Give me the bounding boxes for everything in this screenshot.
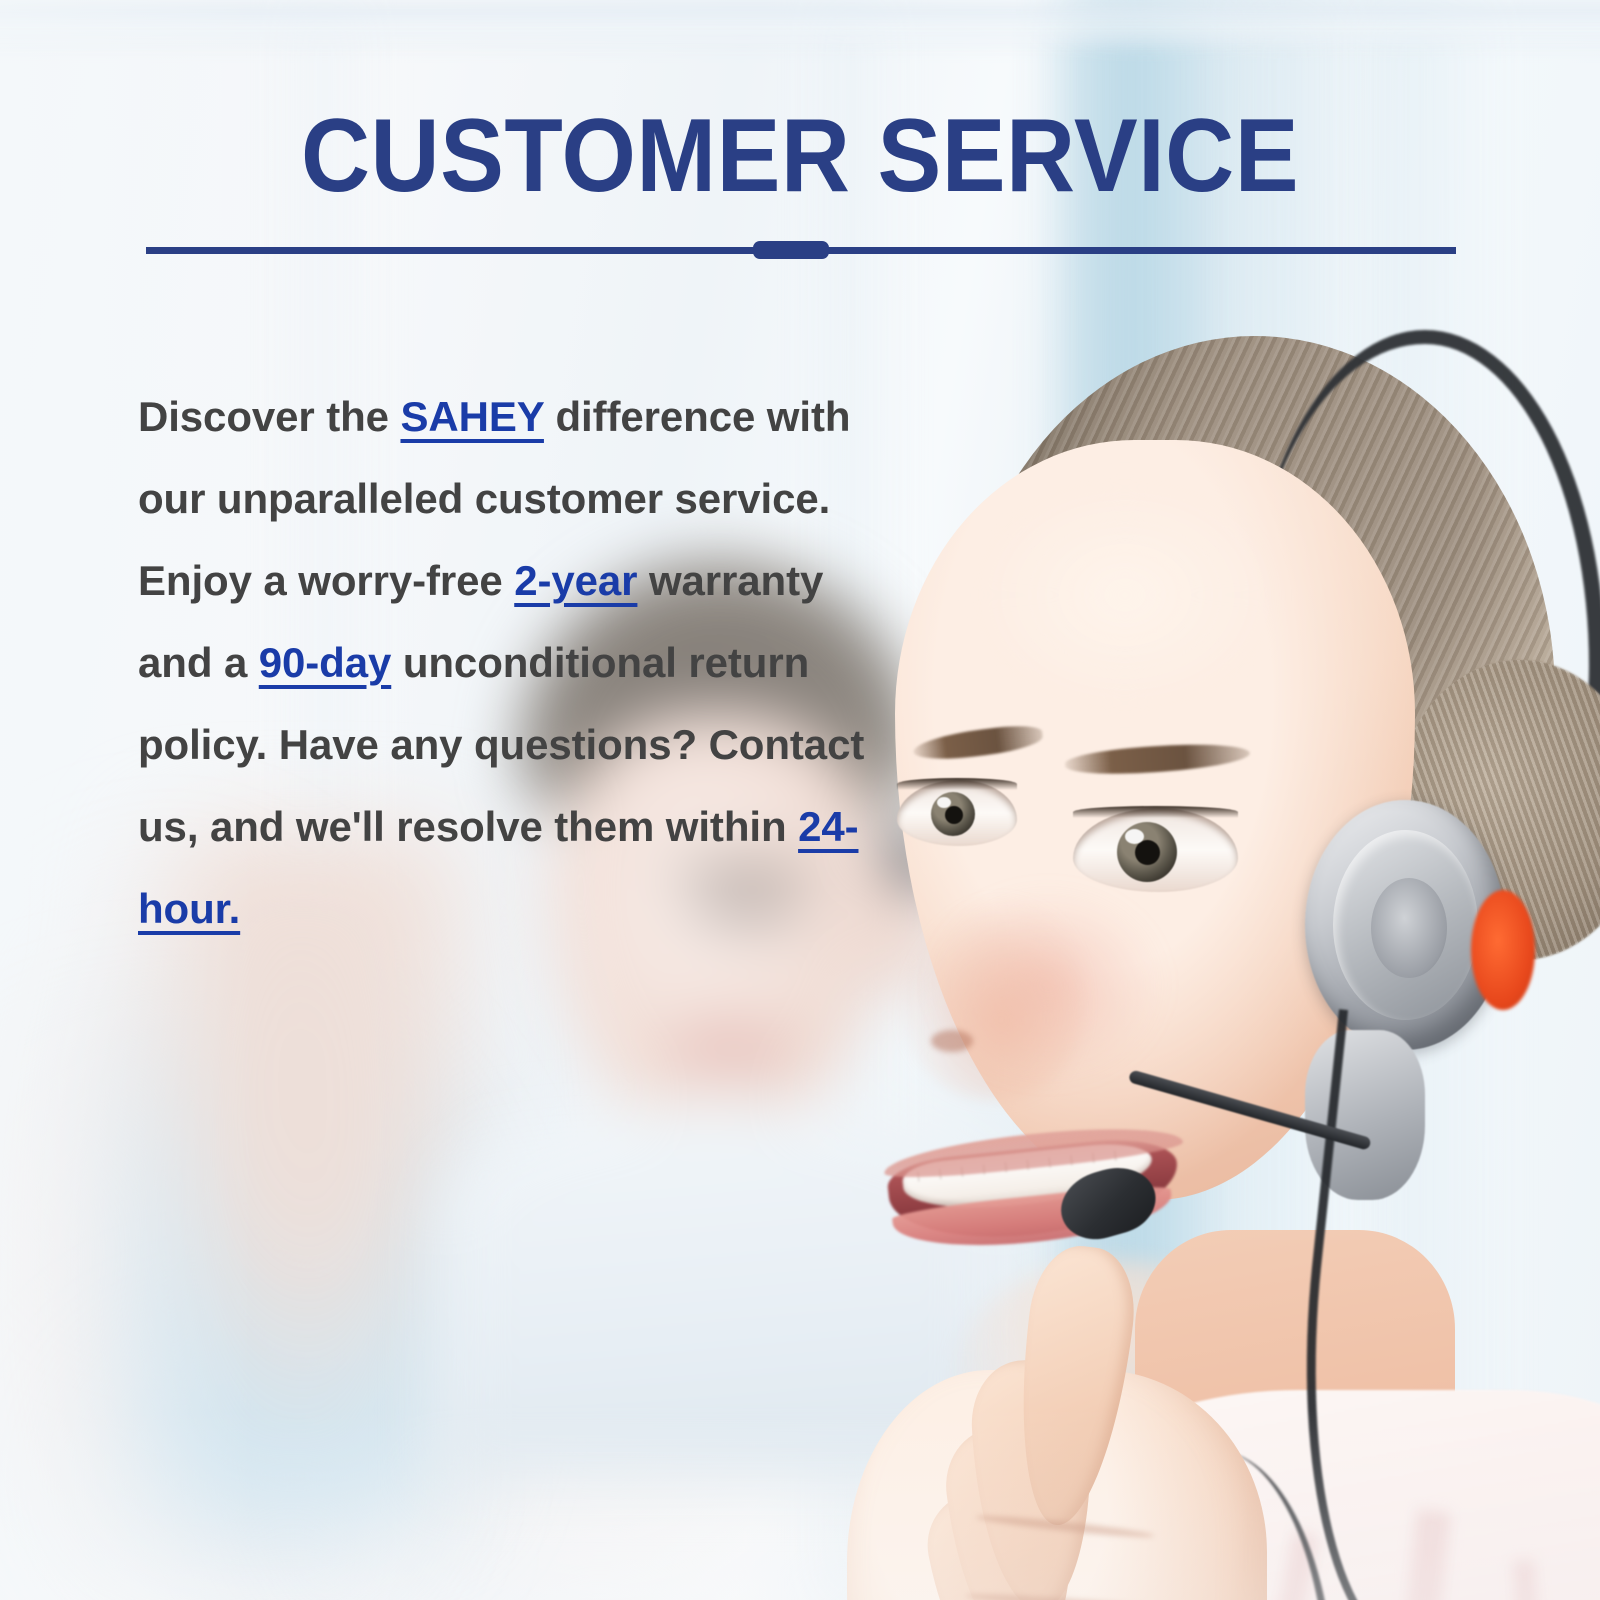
divider-accent-block bbox=[753, 241, 829, 259]
body-copy: Discover the SAHEY difference with our u… bbox=[138, 376, 898, 950]
body-copy-text: Discover the bbox=[138, 393, 400, 440]
body-copy-highlight-1[interactable]: SAHEY bbox=[400, 393, 543, 440]
banner-stage: CUSTOMER SERVICE Discover the SAHEY diff… bbox=[0, 0, 1600, 1600]
title-divider bbox=[146, 241, 1456, 259]
banner-content: CUSTOMER SERVICE Discover the SAHEY diff… bbox=[0, 0, 1600, 1600]
body-copy-highlight-5[interactable]: 90-day bbox=[259, 639, 391, 686]
page-title: CUSTOMER SERVICE bbox=[64, 104, 1536, 208]
body-copy-highlight-3[interactable]: 2-year bbox=[514, 557, 637, 604]
